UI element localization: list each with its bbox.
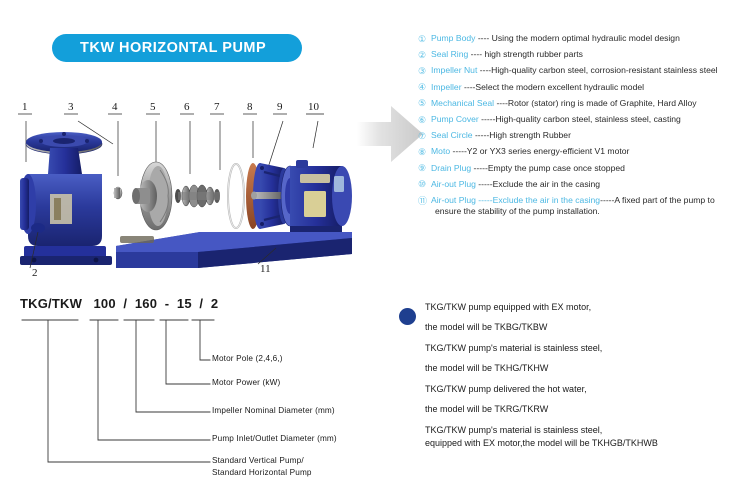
legend-item-name: Air-out Plug -----Exclude the air in the… xyxy=(431,195,600,205)
legend-item-desc: -----High strength Rubber xyxy=(473,130,571,140)
legend-item: ② Seal Ring ---- high strength rubber pa… xyxy=(418,49,752,61)
model-label-motor-power: Motor Power (kW) xyxy=(212,378,280,387)
legend-item-number: ⑧ xyxy=(418,146,431,158)
legend-item-desc: -----A fixed part of the pump to xyxy=(600,195,715,205)
pump-diagram-svg: 1 3 4 5 6 7 8 9 10 xyxy=(8,96,358,286)
legend-item-desc: ---- Using the modern optimal hydraulic … xyxy=(475,33,679,43)
legend-item-name: Pump Body xyxy=(431,33,475,43)
legend-item: ⑪ Air-out Plug -----Exclude the air in t… xyxy=(418,195,752,217)
exploded-pump-diagram: 1 3 4 5 6 7 8 9 10 xyxy=(8,96,358,286)
model-label-impeller-diameter: Impeller Nominal Diameter (mm) xyxy=(212,406,335,415)
legend-item: ⑧ Moto -----Y2 or YX3 series energy-effi… xyxy=(418,146,752,158)
svg-text:7: 7 xyxy=(214,101,220,113)
note-line: TKG/TKW pump's material is stainless ste… xyxy=(425,344,749,353)
legend-item-desc: ----Select the modern excellent hydrauli… xyxy=(462,82,644,92)
page-title-banner: TKW HORIZONTAL PUMP xyxy=(52,34,302,62)
model-label-motor-pole: Motor Pole (2,4,6,) xyxy=(212,354,283,363)
legend-item-name: Drain Plug xyxy=(431,163,471,173)
svg-text:6: 6 xyxy=(184,101,190,113)
legend-item-number: ④ xyxy=(418,82,431,94)
legend-item: ⑨ Drain Plug -----Empty the pump case on… xyxy=(418,163,752,175)
legend-item-number: ⑥ xyxy=(418,114,431,126)
legend-item-name: Seal Circle xyxy=(431,130,473,140)
svg-text:9: 9 xyxy=(277,101,283,113)
legend-item-name: Pump Cover xyxy=(431,114,479,124)
legend-item-number: ⑤ xyxy=(418,98,431,110)
legend-item: ④ Impeller ----Select the modern excelle… xyxy=(418,82,752,94)
legend-item-desc: -----Y2 or YX3 series energy-efficient V… xyxy=(450,146,629,156)
bullet-dot-icon xyxy=(399,308,416,325)
callout-numbers-top: 1 3 4 5 6 7 8 9 10 xyxy=(18,101,324,114)
legend-item: ⑦ Seal Circle -----High strength Rubber xyxy=(418,130,752,142)
seal-circle-part xyxy=(228,164,244,228)
svg-text:8: 8 xyxy=(247,101,253,113)
note-line: TKG/TKW pump delivered the hot water, xyxy=(425,385,749,394)
model-label-standard-vertical-pump: Standard Vertical Pump/ xyxy=(212,456,304,465)
model-leader-lines xyxy=(14,296,390,492)
svg-text:5: 5 xyxy=(150,101,156,113)
svg-text:2: 2 xyxy=(32,267,38,279)
model-label-inlet-outlet-diameter: Pump Inlet/Outlet Diameter (mm) xyxy=(212,434,337,443)
legend-item-desc: -----High-quality carbon steel, stainles… xyxy=(479,114,681,124)
legend-item-desc: ----Rotor (stator) ring is made of Graph… xyxy=(494,98,697,108)
svg-text:3: 3 xyxy=(68,101,74,113)
legend-item: ③ Impeller Nut ----High-quality carbon s… xyxy=(418,65,752,77)
legend-item-desc: ----High-quality carbon steel, corrosion… xyxy=(477,65,717,75)
right-arrow-icon xyxy=(355,100,425,168)
legend-item-number: ② xyxy=(418,49,431,61)
svg-text:1: 1 xyxy=(22,101,28,113)
page-title: TKW HORIZONTAL PUMP xyxy=(80,40,266,56)
legend-item-number: ① xyxy=(418,33,431,45)
legend-item: ⑤ Mechanical Seal ----Rotor (stator) rin… xyxy=(418,98,752,110)
svg-text:11: 11 xyxy=(260,263,271,275)
model-variant-notes: TKG/TKW pump equipped with EX motor, the… xyxy=(399,303,749,449)
impeller-nut-part xyxy=(114,187,122,199)
note-line: TKG/TKW pump equipped with EX motor, xyxy=(425,303,749,312)
pump-spec-sheet: TKW HORIZONTAL PUMP xyxy=(0,0,756,500)
motor-shaft-part xyxy=(251,192,284,200)
parts-legend-list: ① Pump Body ---- Using the modern optima… xyxy=(418,33,752,221)
note-line: the model will be TKHG/TKHW xyxy=(425,364,749,373)
legend-item-number: ③ xyxy=(418,65,431,77)
svg-text:10: 10 xyxy=(308,101,320,113)
legend-item-number: ⑩ xyxy=(418,179,431,191)
legend-item-desc: -----Empty the pump case once stopped xyxy=(471,163,625,173)
model-label-standard-horizontal-pump: Standard Horizontal Pump xyxy=(212,468,312,477)
legend-item-desc: -----Exclude the air in the casing xyxy=(476,179,600,189)
legend-item-name: Impeller Nut xyxy=(431,65,477,75)
svg-text:4: 4 xyxy=(112,101,118,113)
legend-item-number: ⑨ xyxy=(418,163,431,175)
legend-item: ⑩ Air-out Plug -----Exclude the air in t… xyxy=(418,179,752,191)
legend-item-name: Mechanical Seal xyxy=(431,98,494,108)
legend-item: ⑥ Pump Cover -----High-quality carbon st… xyxy=(418,114,752,126)
base-plate-part xyxy=(116,232,352,268)
note-line: the model will be TKRG/TKRW xyxy=(425,405,749,414)
legend-item-name: Impeller xyxy=(431,82,462,92)
legend-item-number: ⑦ xyxy=(418,130,431,142)
legend-item-desc: ---- high strength rubber parts xyxy=(468,49,583,59)
legend-item-name: Moto xyxy=(431,146,450,156)
pump-body-part xyxy=(20,132,112,265)
impeller-part xyxy=(132,162,172,230)
note-line: the model will be TKBG/TKBW xyxy=(425,323,749,332)
legend-item-continuation: ensure the stability of the pump install… xyxy=(431,206,715,217)
model-code-breakdown: TKG/TKW 100 / 160 - 15 / 2 Motor Pole (2… xyxy=(14,296,390,492)
legend-item-number: ⑪ xyxy=(418,195,431,207)
legend-item: ① Pump Body ---- Using the modern optima… xyxy=(418,33,752,45)
motor-part xyxy=(281,160,352,232)
legend-item-name: Air-out Plug xyxy=(431,179,476,189)
note-line: TKG/TKW pump's material is stainless ste… xyxy=(425,426,749,435)
note-line: equipped with EX motor,the model will be… xyxy=(425,439,749,448)
legend-item-name: Seal Ring xyxy=(431,49,468,59)
mechanical-seal-part xyxy=(175,185,220,207)
